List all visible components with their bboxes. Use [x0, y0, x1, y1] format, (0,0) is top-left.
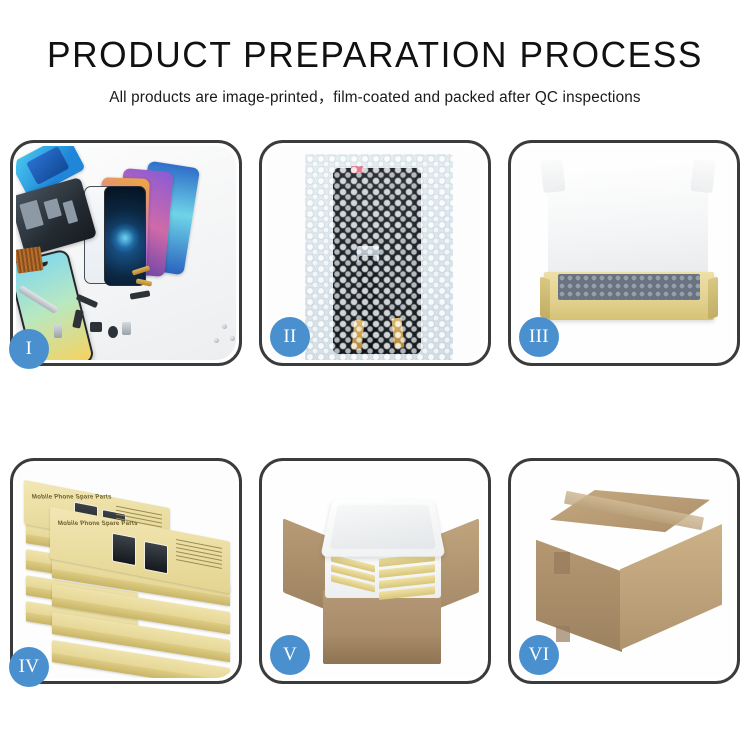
box-lip-left — [540, 277, 550, 320]
step-image-raw-parts — [16, 146, 236, 360]
step-badge-1: I — [9, 329, 49, 369]
bubble-wrap-bag — [305, 154, 453, 360]
step-card-boxed-stack: Mobile Phone Spare Parts Mobile Phone Sp… — [10, 458, 242, 684]
box-label-text-1: Mobile Phone Spare Parts — [31, 493, 112, 500]
gray-bubble-wrap-fill — [558, 274, 700, 300]
step-badge-3: III — [519, 317, 559, 357]
step-badge-2: II — [270, 317, 310, 357]
carton-tab-lower — [556, 626, 570, 642]
carton-tab-upper — [554, 552, 570, 574]
small-part-1 — [90, 322, 102, 332]
carton-face-right — [620, 524, 722, 650]
open-carton — [283, 492, 479, 664]
box-stack: Mobile Phone Spare Parts Mobile Phone Sp… — [22, 488, 236, 668]
step-badge-4: IV — [9, 647, 49, 687]
sim-tray-part — [54, 324, 62, 338]
step-card-bubble-wrap: II — [259, 140, 491, 366]
small-part-3 — [122, 322, 131, 335]
copper-mesh-part — [16, 246, 44, 273]
step-card-raw-parts: I — [10, 140, 242, 366]
sealed-shipping-carton — [528, 490, 728, 662]
page-subtitle: All products are image-printed，film-coat… — [0, 74, 750, 107]
yellow-inner-box — [544, 272, 714, 320]
process-steps-grid: I II — [10, 140, 740, 684]
step-card-sealed-carton: VI — [508, 458, 740, 684]
product-preparation-process-page: PRODUCT PREPARATION PROCESS All products… — [0, 0, 750, 750]
white-foam-sheet — [548, 164, 708, 284]
page-header: PRODUCT PREPARATION PROCESS All products… — [0, 0, 750, 107]
connector-part-3 — [130, 290, 151, 299]
step-card-inner-box: III — [508, 140, 740, 366]
bubble-texture — [305, 154, 453, 360]
page-title: PRODUCT PREPARATION PROCESS — [8, 0, 743, 74]
small-part-2 — [108, 326, 118, 338]
step-badge-5: V — [270, 635, 310, 675]
box-lip-right — [708, 277, 718, 320]
box-label-text-2: Mobile Phone Spare Parts — [57, 520, 138, 527]
packed-boxes-group — [331, 554, 435, 594]
step-image-boxed-stack: Mobile Phone Spare Parts Mobile Phone Sp… — [16, 464, 236, 678]
box-spec-lines-2 — [176, 539, 222, 572]
carton-face-left — [536, 530, 622, 652]
step-badge-6: VI — [519, 635, 559, 675]
foam-lid — [320, 499, 445, 556]
step-card-carton-packing: V — [259, 458, 491, 684]
carton-body — [323, 590, 441, 664]
